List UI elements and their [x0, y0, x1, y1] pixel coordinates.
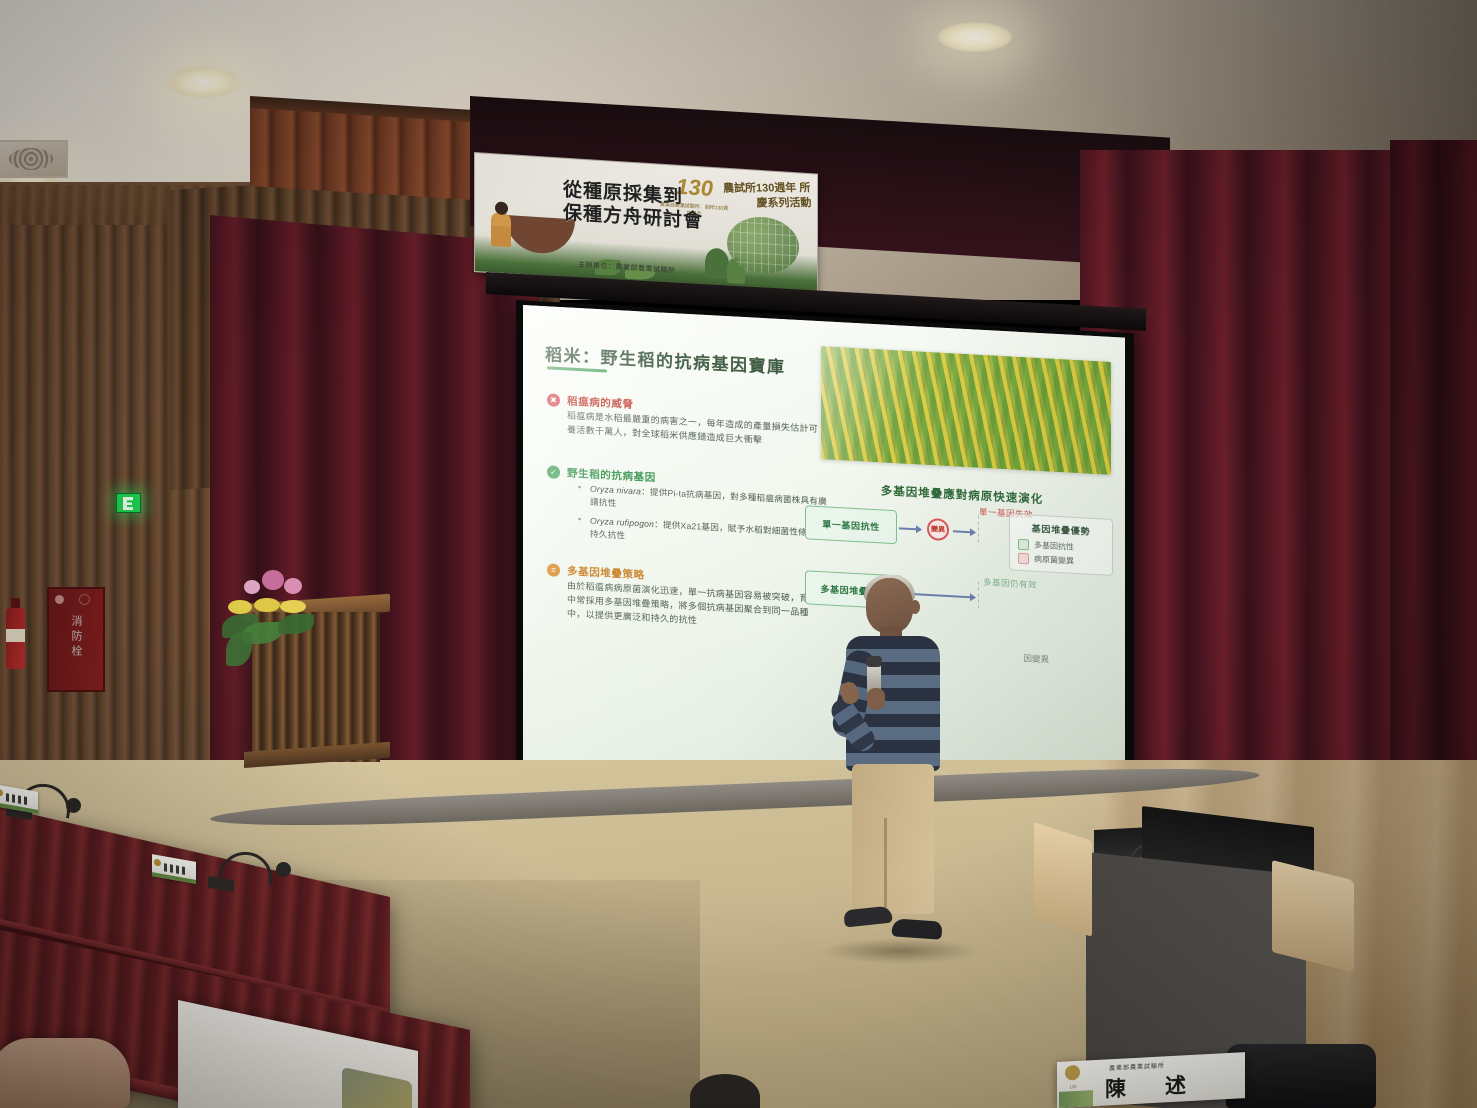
species-name: Oryza nivara [590, 484, 641, 497]
legend-label: 病原菌變異 [1034, 554, 1074, 567]
air-vent [0, 140, 68, 178]
slide-section-stacking: ≡ 多基因堆疊策略 由於稻瘟病病原菌演化迅速，單一抗病基因容易被突破，育種中常採… [547, 562, 835, 578]
speaker-ear [910, 600, 920, 614]
rice-field-photo [821, 346, 1111, 475]
legend-label: 多基因抗性 [1034, 540, 1074, 553]
auditorium-photo: 130 農業部農業試驗所．創所130週年紀念 農試所130週年 所慶系列活動 從… [0, 0, 1477, 1108]
speaker-nameplate: 130 農業部農業試驗所 陳 述 [1057, 1052, 1245, 1108]
virus-icon: ✖ [547, 393, 560, 407]
legend-swatch-green [1018, 539, 1029, 551]
diagram-dashed-divider-2 [978, 582, 980, 612]
alarm-lamp-icon [55, 595, 64, 604]
lectern-left-wing [1034, 822, 1092, 937]
speaker-right-hand [867, 688, 885, 710]
trouser-seam [884, 818, 887, 914]
gene-bullet-list: Oryza nivara：提供Pi-ta抗病基因，對多種稻瘟病菌株具有廣譜抗性 … [577, 482, 835, 559]
event-banner: 130 農業部農業試驗所．創所130週年紀念 農試所130週年 所慶系列活動 從… [474, 152, 818, 294]
nameplate-artwork [1059, 1090, 1093, 1108]
agency-logo-icon [1065, 1065, 1080, 1081]
slide-title: 稻米：野生稻的抗病基因寶庫 [545, 340, 786, 378]
desk-microphone-capsule [276, 862, 291, 877]
nameplate-name: 陳 述 [1105, 1069, 1195, 1104]
slide-section-threat: ✖ 稻瘟病的威脅 稻瘟病是水稻最嚴重的病害之一，每年造成的產量損失估計可養活數千… [547, 392, 835, 408]
fire-cabinet-label: 消防栓 [68, 615, 84, 660]
speaker-head [866, 578, 913, 633]
presentation-slide: 稻米：野生稻的抗病基因寶庫 ✖ 稻瘟病的威脅 稻瘟病是水稻最嚴重的病害之一，每年… [523, 305, 1125, 816]
alarm-bell-icon [79, 594, 90, 605]
legend-swatch-pink [1018, 553, 1029, 565]
diagram-dashed-divider-1 [978, 516, 980, 546]
desk-microphone-capsule [66, 798, 81, 813]
ceiling-downlight [168, 66, 240, 98]
diagram-legend: 基因堆疊優勢 多基因抗性 病原菌變異 [1009, 513, 1113, 576]
mutation-badge: 變異 [927, 518, 949, 541]
speaker-left-shoe [843, 906, 893, 928]
exit-sign-icon [116, 493, 141, 513]
legend-item: 病原菌變異 [1018, 553, 1104, 569]
diagram-arrow-2 [953, 530, 975, 533]
stack-icon: ≡ [547, 563, 560, 577]
fire-hydrant-cabinet: 消防栓 [47, 587, 105, 692]
anniversary-text: 農試所130週年 所慶系列活動 [722, 181, 812, 211]
speaker-right-shoe [891, 918, 942, 939]
section-body: 由於稻瘟病病原菌演化迅速，單一抗病基因容易被突破，育種中常採用多基因堆疊策略，將… [567, 579, 827, 635]
banner-title: 從種原採集到 保種方舟研討會 [563, 179, 713, 235]
diagram-bottom-note: 因變異 [1023, 652, 1049, 665]
microphone-head [866, 656, 882, 667]
fire-extinguisher [6, 607, 25, 669]
ceiling-downlight [938, 22, 1012, 52]
agency-logo-caption: 130 [1061, 1084, 1085, 1090]
species-name: Oryza rufipogon [590, 515, 654, 528]
diagram-arrow-1 [899, 527, 921, 530]
front-row-chair [1226, 1044, 1376, 1108]
legend-item: 多基因抗性 [1018, 539, 1104, 555]
shield-icon: ✓ [547, 465, 560, 479]
legend-title: 基因堆疊優勢 [1018, 521, 1104, 539]
audience-chair [0, 1038, 130, 1108]
person-illustration [491, 212, 511, 247]
projector-screen: 稻米：野生稻的抗病基因寶庫 ✖ 稻瘟病的威脅 稻瘟病是水稻最嚴重的病害之一，每年… [523, 305, 1125, 816]
flower-arrangement [222, 564, 344, 674]
outcome-multi-gene: 多基因仍有效 [983, 576, 1037, 591]
speaker-person [836, 578, 946, 950]
diagram-node-single-gene: 單一基因抗性 [805, 505, 897, 544]
speaker-trousers [852, 764, 934, 914]
slide-section-genes: ✓ 野生稻的抗病基因 Oryza nivara：提供Pi-ta抗病基因，對多種稻… [547, 464, 835, 480]
diagram-title: 多基因堆疊應對病原快速演化 [847, 481, 1077, 509]
section-body: 稻瘟病是水稻最嚴重的病害之一，每年造成的產量損失估計可養活數千萬人，對全球稻米供… [567, 409, 827, 451]
